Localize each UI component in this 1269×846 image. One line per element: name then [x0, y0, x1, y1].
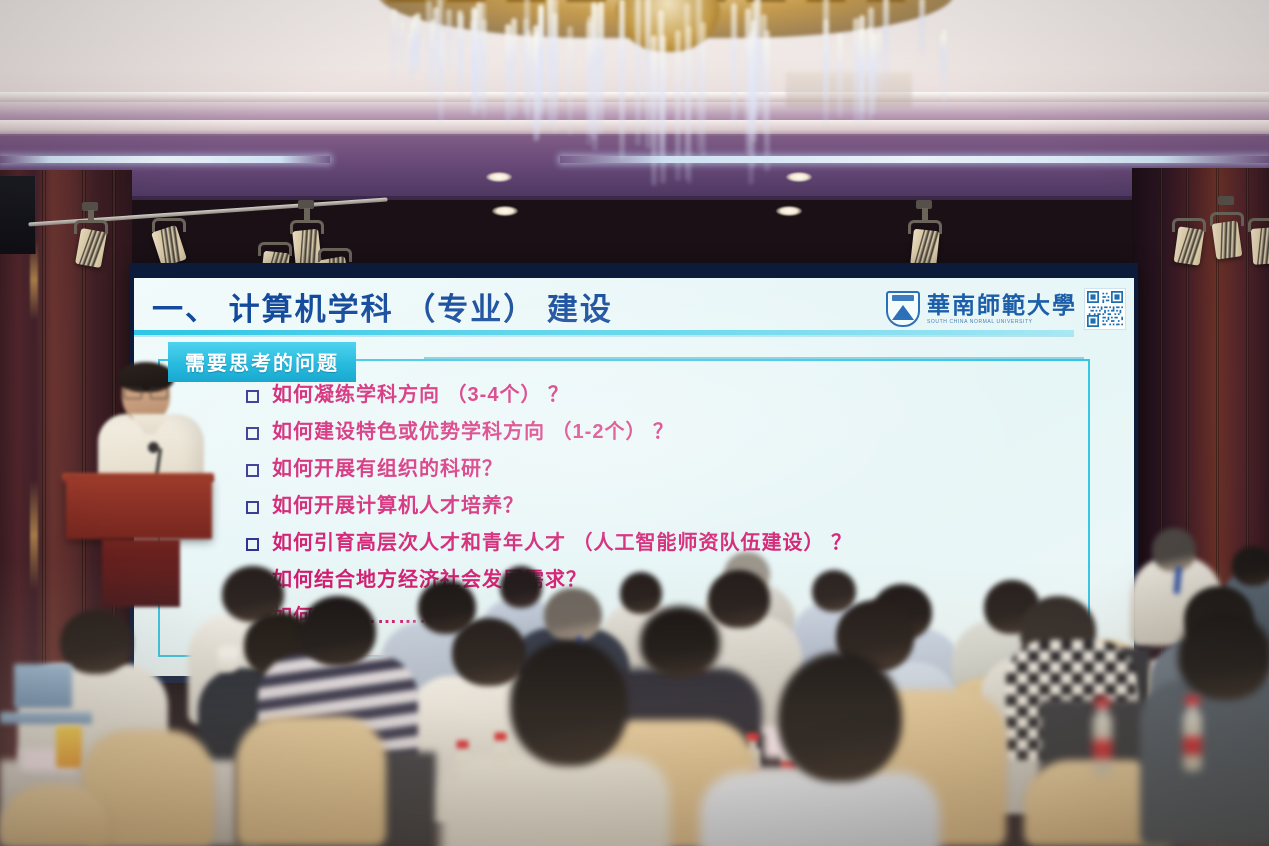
bottle-cap — [457, 740, 469, 748]
downlight-icon — [786, 172, 812, 182]
bullet-text: 如何开展计算机人才培养？ — [272, 495, 524, 518]
downlight-icon — [776, 206, 802, 216]
bullet-checkbox-icon — [246, 501, 259, 514]
bullet-text: 如何凝练学科方向 （3-4个） ？ — [272, 384, 569, 407]
water-bottle — [1093, 697, 1112, 759]
audience-head — [620, 572, 662, 614]
teacup-lid — [217, 645, 239, 652]
audience-body — [1140, 680, 1269, 846]
stage-light-icon — [1212, 220, 1243, 259]
university-logo-text: 華南師範大學 SOUTH CHINA NORMAL UNIVERSITY — [927, 294, 1077, 325]
bottle-cap — [1095, 697, 1110, 707]
audience-head — [812, 570, 856, 612]
bottle-neck — [1188, 705, 1198, 713]
bottle-cap — [746, 733, 758, 742]
bullet-checkbox-icon — [246, 427, 259, 440]
bullet-row: 如何凝练学科方向 （3-4个） ？ — [246, 384, 1134, 407]
light-stem — [922, 208, 928, 220]
table-item-yellow — [56, 726, 82, 768]
bullet-checkbox-icon — [246, 390, 259, 403]
audience-body — [440, 756, 670, 846]
audience-head — [1178, 612, 1269, 700]
bottle-cap — [1185, 696, 1199, 706]
university-crest-icon — [886, 291, 920, 327]
light-clamp — [1218, 196, 1234, 205]
audience-head — [708, 570, 770, 628]
podium — [66, 477, 212, 539]
chandelier-crystal-strands — [378, 0, 954, 164]
bottle-cap — [495, 732, 507, 740]
microphone-icon — [148, 442, 159, 453]
audience-head — [778, 652, 902, 782]
audience-head — [500, 566, 542, 608]
water-bottle — [1183, 696, 1201, 755]
university-name-en: SOUTH CHINA NORMAL UNIVERSITY — [927, 320, 1077, 325]
bottle-label — [1183, 737, 1201, 755]
bullet-text: 如何开展有组织的科研？ — [272, 458, 503, 481]
teacup — [218, 650, 238, 672]
university-logo: 華南師範大學 SOUTH CHINA NORMAL UNIVERSITY — [886, 288, 1126, 330]
audience-body — [700, 772, 940, 846]
audience-head — [544, 588, 602, 642]
stage-light-icon — [1251, 227, 1269, 265]
laptop-base — [0, 712, 92, 724]
stage-light-icon — [75, 228, 107, 268]
bottle-neck — [1097, 707, 1107, 715]
bullet-row: 如何引育高层次人才和青年人才 （人工智能师资队伍建设） ？ — [246, 532, 1134, 555]
light-stem — [88, 210, 94, 220]
section-chip-label: 需要思考的问题 — [168, 342, 356, 382]
university-name-cn: 華南師範大學 — [927, 294, 1077, 317]
qr-code-icon — [1084, 288, 1126, 330]
bullet-row: 如何开展计算机人才培养？ — [246, 495, 1134, 518]
bullet-checkbox-icon — [246, 538, 259, 551]
bullet-text: 如何引育高层次人才和青年人才 （人工智能师资队伍建设） ？ — [272, 532, 852, 555]
stage-light-icon — [910, 229, 940, 268]
bullet-checkbox-icon — [246, 464, 259, 477]
audience-head — [1152, 528, 1196, 572]
ceiling-strip-light-left — [0, 156, 330, 163]
section-chip-rule — [424, 357, 1084, 359]
downlight-icon — [492, 206, 518, 216]
glasses-icon — [124, 388, 168, 397]
conference-photo-scene: 一、 计算机学科 （专业） 建设 華南師範大學 SOUTH CHINA NORM… — [0, 0, 1269, 846]
wall-left-gold-accent — [30, 480, 38, 590]
slide-title: 一、 计算机学科 （专业） 建设 — [152, 284, 613, 329]
downlight-icon — [486, 172, 512, 182]
title-divider-thin — [134, 335, 1074, 337]
bullet-row: 如何建设特色或优势学科方向 （1-2个） ？ — [246, 421, 1134, 444]
audience-head — [300, 596, 376, 666]
audience-chair — [236, 716, 386, 846]
stage-light-icon — [1174, 226, 1205, 265]
audience-head — [640, 606, 720, 678]
audience-head — [1232, 546, 1269, 586]
light-stem — [304, 208, 310, 220]
bullet-row: 如何开展有组织的科研？ — [246, 458, 1134, 481]
bullet-text: 如何建设特色或优势学科方向 （1-2个） ？ — [272, 421, 674, 444]
audience-head — [510, 640, 628, 766]
laptop-screen — [14, 664, 72, 708]
podium-base — [102, 539, 180, 607]
bottle-label — [1093, 740, 1112, 759]
